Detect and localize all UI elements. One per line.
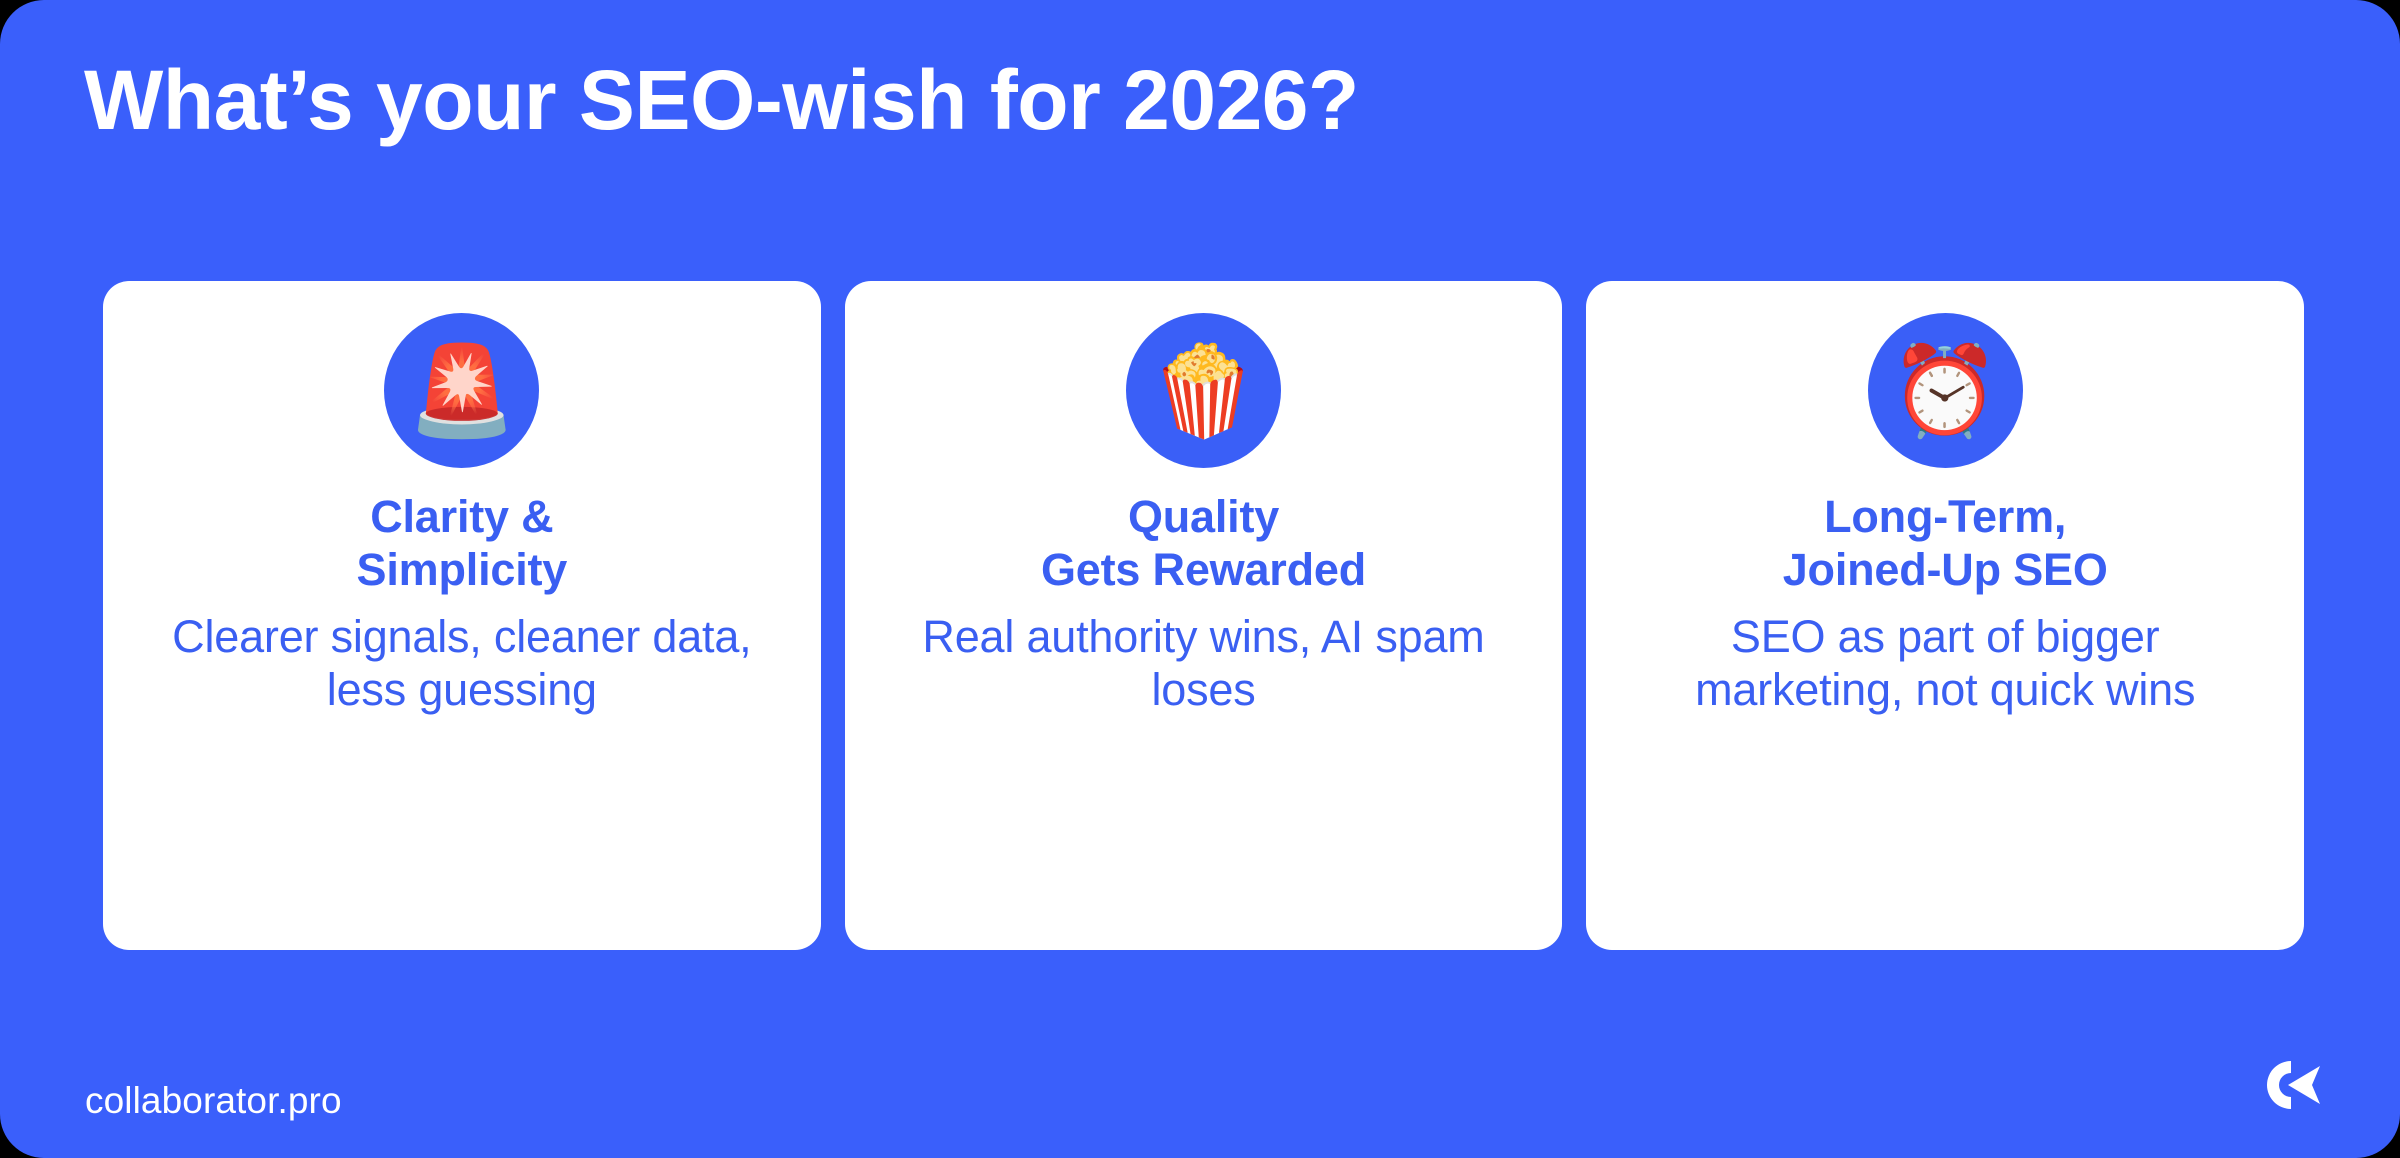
card-body: Clearer signals, cleaner data, less gues… — [162, 610, 762, 716]
collaborator-logo — [2260, 1056, 2326, 1114]
card-list: 🚨 Clarity & Simplicity Clearer signals, … — [103, 281, 2304, 950]
card-title: Quality Gets Rewarded — [1041, 490, 1366, 596]
icon-badge: 🚨 — [384, 313, 539, 468]
card-long-term-joined-up-seo: ⏰ Long-Term, Joined-Up SEO SEO as part o… — [1586, 281, 2304, 950]
card-clarity-simplicity: 🚨 Clarity & Simplicity Clearer signals, … — [103, 281, 821, 950]
icon-badge: 🍿 — [1126, 313, 1281, 468]
police-car-light-icon: 🚨 — [407, 347, 517, 435]
card-title: Clarity & Simplicity — [357, 490, 568, 596]
popcorn-icon: 🍿 — [1149, 347, 1259, 435]
footer-website-url: collaborator.pro — [85, 1080, 342, 1122]
card-body: SEO as part of bigger marketing, not qui… — [1645, 610, 2245, 716]
poster-canvas: What’s your SEO-wish for 2026? 🚨 Clarity… — [0, 0, 2400, 1158]
card-body: Real authority wins, AI spam loses — [904, 610, 1504, 716]
card-quality-gets-rewarded: 🍿 Quality Gets Rewarded Real authority w… — [845, 281, 1563, 950]
card-title: Long-Term, Joined-Up SEO — [1783, 490, 2108, 596]
icon-badge: ⏰ — [1868, 313, 2023, 468]
alarm-clock-icon: ⏰ — [1890, 347, 2000, 435]
page-title: What’s your SEO-wish for 2026? — [84, 56, 2084, 144]
